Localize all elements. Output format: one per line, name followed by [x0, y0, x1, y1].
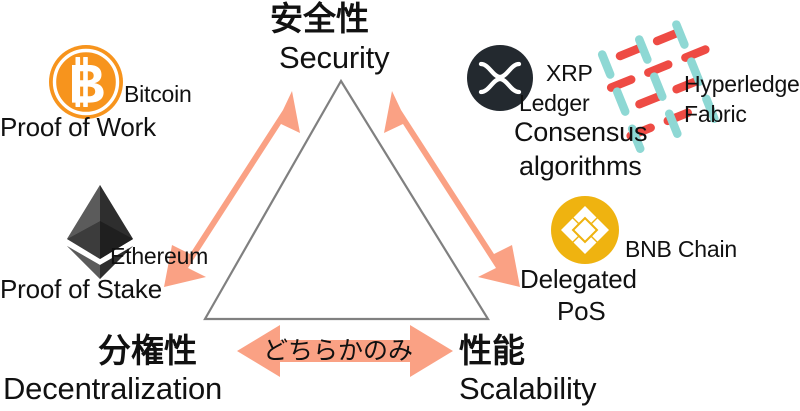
consensus-algorithms-line1: Consensus: [514, 118, 647, 148]
diagram-canvas: 安全性 Security 分権性 Decentralization 性能 Sca…: [0, 0, 800, 411]
xrp-label-line1: XRP: [546, 62, 593, 86]
trilemma-triangle: [205, 81, 488, 319]
vertex-security-jp: 安全性: [270, 2, 369, 36]
bitcoin-icon: [49, 45, 123, 119]
vertex-decentralization-jp: 分権性: [98, 334, 197, 368]
vertex-security-en: Security: [279, 42, 389, 74]
proof-of-work-title: Proof of Work: [0, 114, 156, 141]
bitcoin-label: Bitcoin: [124, 83, 192, 107]
arrow-label-bottom: どちらかのみ: [263, 338, 413, 364]
proof-of-stake-title: Proof of Stake: [0, 276, 162, 303]
consensus-algorithms-line2: algorithms: [519, 152, 642, 182]
ethereum-label: Ethereum: [110, 245, 208, 269]
vertex-decentralization-en: Decentralization: [3, 373, 222, 405]
vertex-scalability-en: Scalability: [459, 373, 596, 405]
delegated-pos-line2: PoS: [557, 298, 606, 325]
xrp-label-line2: Ledger: [519, 92, 589, 116]
bnb-chain-label: BNB Chain: [625, 238, 737, 262]
bnb-chain-icon: [551, 196, 619, 264]
vertex-scalability-jp: 性能: [459, 334, 525, 368]
hyperledger-label-line2: Fabric: [684, 103, 747, 127]
delegated-pos-line1: Delegated: [520, 266, 637, 293]
hyperledger-label-line1: Hyperledger: [684, 73, 800, 97]
